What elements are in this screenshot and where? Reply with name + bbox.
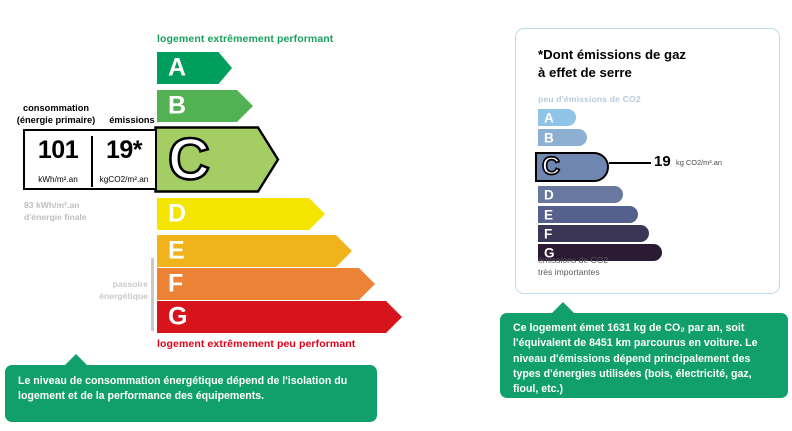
consumption-header: consommation (énergie primaire) <box>8 103 104 126</box>
ges-leader-line <box>609 162 651 164</box>
consumption-header-line-1: consommation <box>8 103 104 115</box>
energy-arrow-icon <box>157 235 352 267</box>
passoire-line-2: énergétique <box>70 290 148 302</box>
callout-energy-info: Le niveau de consommation énergétique dé… <box>5 365 377 422</box>
consumption-value: 101 <box>25 137 91 163</box>
final-energy-note: 83 kWh/m².an d'énergie finale <box>24 199 144 224</box>
energy-bar-letter: D <box>168 202 186 227</box>
dpe-label: logement extrêmement performant ABDEFG l… <box>0 0 792 431</box>
energy-bar-b: B <box>157 90 253 122</box>
callout-tip-icon <box>65 354 87 365</box>
ges-bar-letter: A <box>544 111 554 125</box>
passoire-line-1: passoire <box>70 278 148 290</box>
energy-bar-a: A <box>157 52 232 84</box>
ges-bar-letter: D <box>544 188 554 202</box>
ges-bar-f: F <box>538 225 649 242</box>
consumption-cell: 101 kWh/m².an <box>25 131 91 188</box>
energy-bar-f: F <box>157 268 375 300</box>
energy-arrow-icon <box>157 301 402 333</box>
passoire-marker-bar <box>151 258 154 331</box>
passoire-label: passoire énergétique <box>70 278 148 303</box>
emissions-value: 19* <box>93 137 155 163</box>
ges-title-line-2: à effet de serre <box>538 64 758 82</box>
energy-arrow-icon <box>157 268 375 300</box>
ges-title: *Dont émissions de gaz à effet de serre <box>538 46 758 82</box>
emissions-cell: 19* kgCO2/m².an <box>93 131 155 188</box>
energy-bottom-caption: logement extrêmement peu performant <box>157 338 355 350</box>
ges-bar-e: E <box>538 206 638 223</box>
energy-top-caption: logement extrêmement performant <box>157 33 333 45</box>
ges-value: 19 <box>654 153 671 170</box>
consumption-unit: kWh/m².an <box>25 175 91 184</box>
ges-bar-c-highlighted: C <box>535 152 609 182</box>
ges-bar-b: B <box>538 129 587 146</box>
ges-top-label: peu d'émissions de CO2 <box>538 94 641 104</box>
energy-bar-g: G <box>157 301 402 333</box>
ges-panel: *Dont émissions de gaz à effet de serre … <box>515 28 780 294</box>
callout-tip-icon <box>552 302 574 313</box>
energy-bar-letter: B <box>168 94 186 119</box>
ges-bottom-label-line-1: émissions de CO2 <box>538 254 738 266</box>
emissions-unit: kgCO2/m².an <box>93 175 155 184</box>
ges-bar-letter: E <box>544 208 553 222</box>
ges-rating-letter: C <box>542 155 560 180</box>
ges-bottom-label: émissions de CO2 très importantes <box>538 254 738 279</box>
final-energy-line-1: 83 kWh/m².an <box>24 199 144 211</box>
callout-ges-info: Ce logement émet 1631 kg de CO₂ par an, … <box>500 313 788 398</box>
energy-bar-c-highlighted: C <box>154 126 280 193</box>
energy-bar-letter: F <box>168 272 183 297</box>
ges-bar-letter: F <box>544 227 552 241</box>
energy-bar-letter: G <box>168 305 187 330</box>
energy-bar-letter: A <box>168 56 186 81</box>
ges-value-unit: kg CO2/m².an <box>676 158 722 167</box>
ges-bar-a: A <box>538 109 576 126</box>
energy-bar-e: E <box>157 235 352 267</box>
ges-bar-letter: B <box>544 131 554 145</box>
final-energy-line-2: d'énergie finale <box>24 211 144 223</box>
ges-title-line-1: *Dont émissions de gaz <box>538 46 758 64</box>
energy-rating-letter: C <box>168 131 210 189</box>
energy-bar-letter: E <box>168 239 185 264</box>
emissions-header: émissions <box>104 115 160 127</box>
consumption-value-box: 101 kWh/m².an 19* kgCO2/m².an <box>23 129 157 190</box>
energy-bar-d: D <box>157 198 325 230</box>
callout-energy-text: Le niveau de consommation énergétique dé… <box>18 375 347 402</box>
consumption-header-line-2: (énergie primaire) <box>8 115 104 127</box>
ges-bottom-label-line-2: très importantes <box>538 266 738 278</box>
ges-bar-d: D <box>538 186 623 203</box>
callout-ges-text: Ce logement émet 1631 kg de CO₂ par an, … <box>513 322 758 395</box>
